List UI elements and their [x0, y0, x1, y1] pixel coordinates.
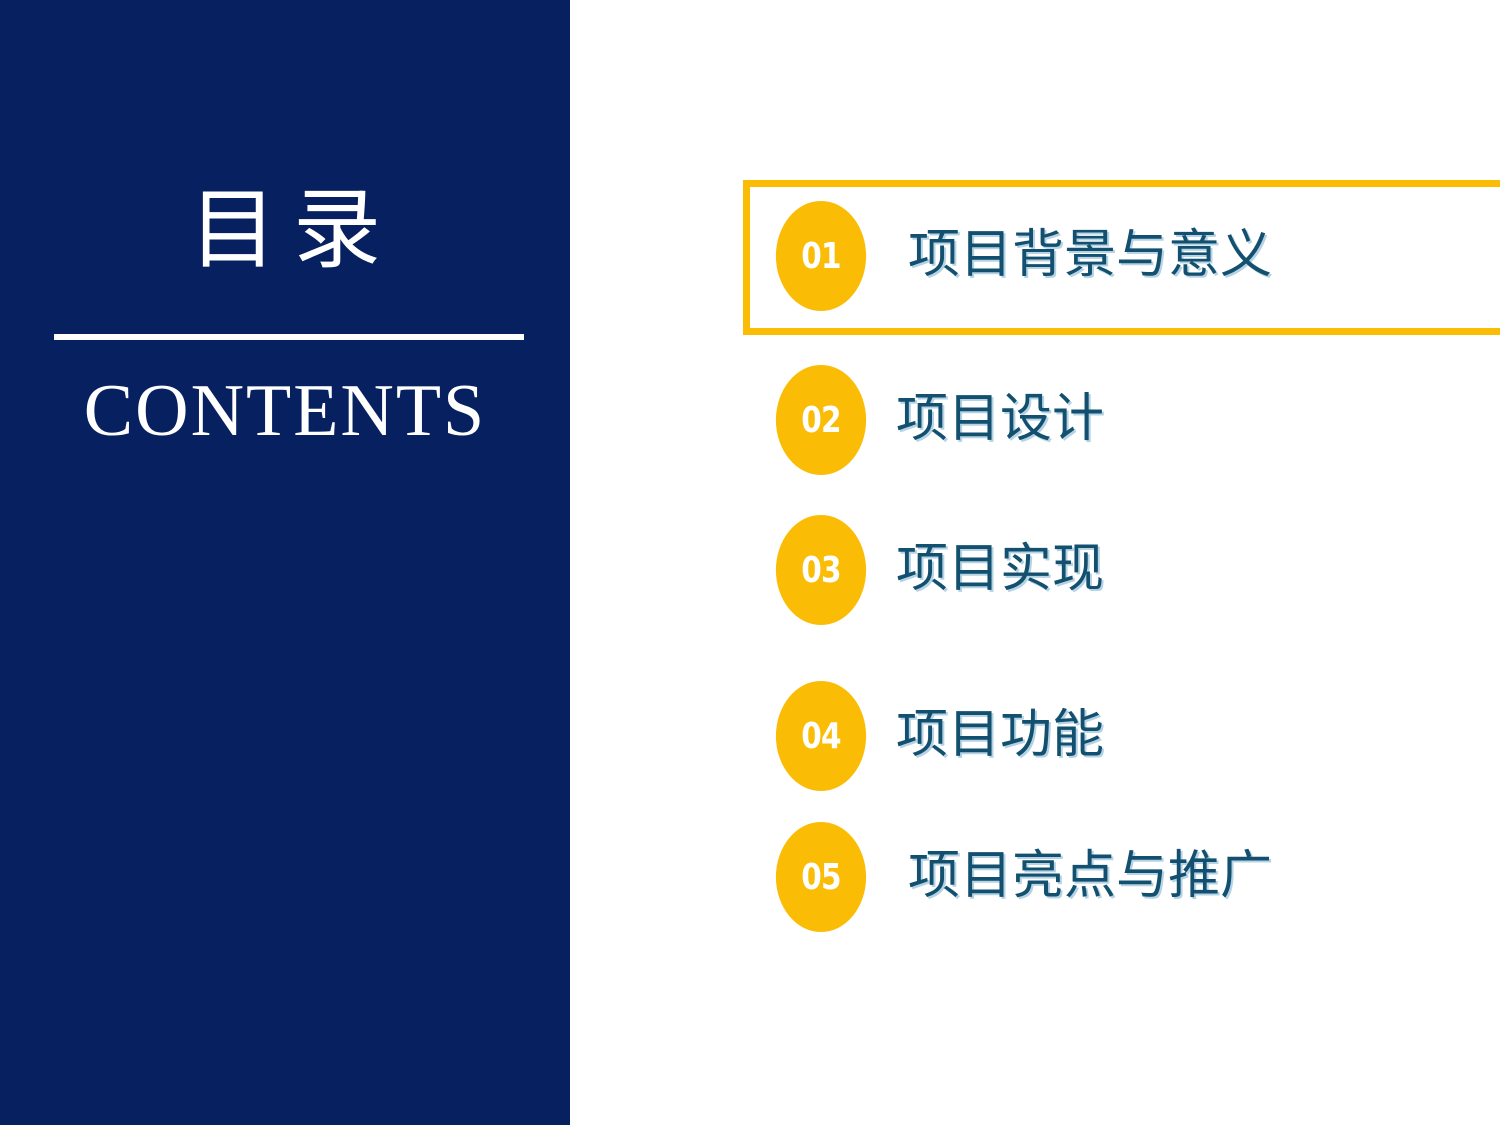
toc-item-01[interactable]: 01 项目背景与意义: [766, 201, 1272, 311]
toc-item-04[interactable]: 04 项目功能: [766, 681, 1104, 791]
toc-item-05[interactable]: 05 项目亮点与推广: [766, 822, 1272, 932]
toc-number-badge-03: 03: [776, 515, 866, 625]
toc-left-panel: 目录 CONTENTS: [0, 0, 570, 1125]
toc-label-03: 项目实现: [896, 541, 1104, 598]
page-title-english: CONTENTS: [0, 374, 570, 448]
toc-label-04: 项目功能: [896, 707, 1104, 764]
toc-number-badge-04: 04: [776, 681, 866, 791]
title-divider: [54, 334, 524, 340]
toc-item-03[interactable]: 03 项目实现: [766, 515, 1104, 625]
slide-canvas: 目录 CONTENTS 01 项目背景与意义 02 项目设计 03 项目实现 0…: [0, 0, 1500, 1125]
toc-label-01: 项目背景与意义: [908, 227, 1272, 284]
toc-number-badge-05: 05: [776, 822, 866, 932]
toc-number-badge-01: 01: [776, 201, 866, 311]
toc-item-02[interactable]: 02 项目设计: [766, 365, 1104, 475]
table-of-contents-list: 01 项目背景与意义 02 项目设计 03 项目实现 04 项目功能 05 项目…: [570, 0, 1500, 1125]
page-title-chinese: 目录: [0, 188, 570, 276]
toc-label-02: 项目设计: [896, 391, 1104, 448]
toc-label-05: 项目亮点与推广: [908, 848, 1272, 905]
toc-number-badge-02: 02: [776, 365, 866, 475]
